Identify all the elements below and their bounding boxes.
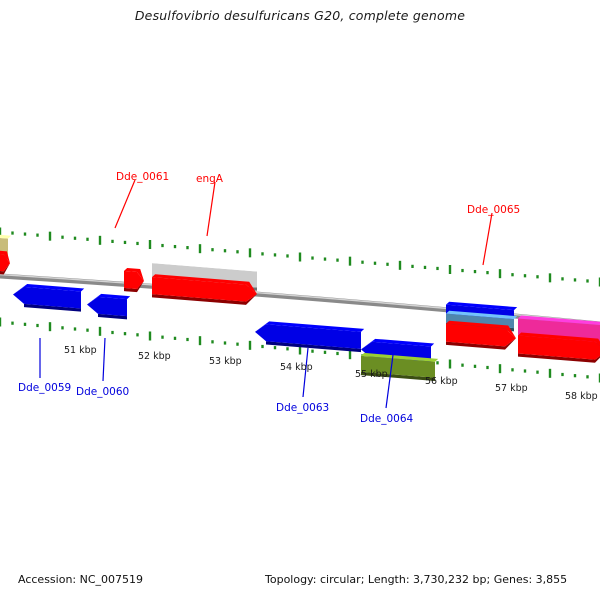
scale-tick-minor — [74, 327, 76, 330]
scale-tick-major — [299, 253, 301, 262]
scale-tick-major — [199, 336, 201, 345]
scale-tick-major — [249, 248, 251, 257]
feature-blue-0060[interactable] — [87, 293, 130, 320]
scale-tick-minor — [586, 375, 588, 378]
scale-tick-minor — [224, 249, 226, 252]
scale-tick-major — [0, 318, 1, 327]
scale-tick-major — [249, 341, 251, 350]
scale-tick-minor — [224, 341, 226, 344]
scale-tick-minor — [336, 259, 338, 262]
gene-label-dde_0059[interactable]: Dde_0059 — [18, 383, 71, 394]
scale-tick-major — [99, 327, 101, 336]
scale-tick-minor — [211, 340, 213, 343]
scale-tick-minor — [474, 270, 476, 273]
feature-red-leftedge[interactable] — [0, 250, 10, 275]
scale-tick-major — [199, 244, 201, 253]
scale-tick-minor — [124, 241, 126, 244]
scale-tick-minor — [436, 267, 438, 270]
scale-tick-minor — [236, 343, 238, 346]
scale-tick-minor — [286, 254, 288, 257]
gene-label-dde_0065[interactable]: Dde_0065 — [467, 205, 520, 216]
scale-tick-minor — [111, 331, 113, 334]
gene-label-dde_0064[interactable]: Dde_0064 — [360, 414, 413, 425]
scale-tick-minor — [61, 326, 63, 329]
scale-tick-minor — [511, 273, 513, 276]
scale-tick-minor — [124, 332, 126, 335]
scale-tick-minor — [136, 333, 138, 336]
scale-tick-minor — [61, 236, 63, 239]
leader-top-enga-leader — [207, 182, 215, 236]
scale-tick-minor — [574, 278, 576, 281]
scale-tick-minor — [24, 232, 26, 235]
gene-label-enga[interactable]: engA — [196, 174, 223, 185]
scale-label-4: 55 kbp — [355, 370, 388, 380]
scale-tick-major — [449, 360, 451, 369]
scale-tick-minor — [561, 373, 563, 376]
scale-tick-major — [349, 257, 351, 266]
page-title: Desulfovibrio desulfuricans G20, complet… — [0, 8, 600, 23]
scale-tick-minor — [174, 245, 176, 248]
scale-label-5: 56 kbp — [425, 377, 458, 387]
scale-tick-minor — [174, 337, 176, 340]
footer-accession: Accession: NC_007519 — [18, 573, 143, 586]
feature-blue-0063[interactable] — [255, 320, 364, 352]
scale-tick-major — [499, 364, 501, 373]
scale-label-1: 52 kbp — [138, 352, 171, 362]
scale-tick-major — [549, 369, 551, 378]
scale-tick-minor — [161, 336, 163, 339]
scale-tick-minor — [586, 279, 588, 282]
feature-red-0061[interactable] — [124, 268, 144, 293]
scale-tick-minor — [436, 361, 438, 364]
scale-tick-minor — [374, 262, 376, 265]
scale-tick-minor — [286, 347, 288, 350]
scale-tick-minor — [536, 275, 538, 278]
scale-label-2: 53 kbp — [209, 357, 242, 367]
scale-tick-minor — [386, 263, 388, 266]
scale-tick-minor — [486, 366, 488, 369]
scale-tick-minor — [111, 240, 113, 243]
scale-tick-major — [449, 265, 451, 274]
scale-tick-minor — [211, 248, 213, 251]
genome-viewer-stage: Desulfovibrio desulfuricans G20, complet… — [0, 0, 600, 600]
leader-bottom-dde_0060-leader — [103, 338, 105, 381]
gene-label-dde_0063[interactable]: Dde_0063 — [276, 403, 329, 414]
scale-tick-minor — [336, 352, 338, 355]
scale-tick-minor — [461, 364, 463, 367]
scale-tick-minor — [36, 234, 38, 237]
scale-tick-major — [349, 350, 351, 359]
scale-tick-minor — [324, 257, 326, 260]
footer-topology: Topology: circular; Length: 3,730,232 bp… — [265, 573, 567, 586]
leader-top-dde_0065-leader — [483, 213, 492, 265]
scale-tick-minor — [411, 265, 413, 268]
scale-tick-minor — [261, 252, 263, 255]
scale-tick-minor — [361, 261, 363, 264]
gene-label-dde_0061[interactable]: Dde_0061 — [116, 172, 169, 183]
scale-tick-minor — [86, 329, 88, 332]
scale-tick-minor — [86, 238, 88, 241]
scale-label-0: 51 kbp — [64, 346, 97, 356]
scale-label-3: 54 kbp — [280, 363, 313, 373]
scale-tick-minor — [511, 368, 513, 371]
scale-tick-minor — [186, 246, 188, 249]
scale-tick-minor — [186, 338, 188, 341]
scale-tick-major — [399, 261, 401, 270]
scale-tick-minor — [136, 242, 138, 245]
scale-label-6: 57 kbp — [495, 384, 528, 394]
scale-tick-minor — [261, 345, 263, 348]
scale-tick-major — [99, 236, 101, 245]
scale-tick-minor — [11, 231, 13, 234]
scale-tick-minor — [424, 266, 426, 269]
scale-tick-minor — [274, 253, 276, 256]
scale-tick-minor — [311, 256, 313, 259]
scale-tick-minor — [536, 371, 538, 374]
gene-label-dde_0060[interactable]: Dde_0060 — [76, 387, 129, 398]
scale-tick-minor — [274, 346, 276, 349]
scale-tick-major — [549, 273, 551, 282]
scale-tick-major — [149, 240, 151, 249]
scale-tick-minor — [561, 277, 563, 280]
scale-tick-minor — [74, 237, 76, 240]
scale-tick-minor — [236, 250, 238, 253]
scale-tick-minor — [24, 323, 26, 326]
scale-tick-major — [499, 269, 501, 278]
scale-tick-minor — [524, 274, 526, 277]
scale-label-7: 58 kbp — [565, 392, 598, 402]
scale-tick-major — [149, 332, 151, 341]
scale-tick-minor — [11, 322, 13, 325]
scale-tick-minor — [161, 244, 163, 247]
scale-tick-minor — [311, 350, 313, 353]
feature-blue-0060-body[interactable] — [87, 296, 127, 316]
scale-tick-minor — [486, 271, 488, 274]
scale-tick-minor — [461, 269, 463, 272]
scale-tick-minor — [36, 324, 38, 327]
scale-tick-minor — [324, 351, 326, 354]
leader-top-dde_0061-leader — [115, 180, 135, 228]
scale-tick-major — [49, 322, 51, 331]
scale-tick-minor — [574, 374, 576, 377]
scale-tick-major — [49, 232, 51, 241]
feature-blue-0059[interactable] — [13, 283, 84, 312]
scale-tick-minor — [524, 369, 526, 372]
scale-tick-minor — [474, 365, 476, 368]
tick-line-top-group — [0, 228, 600, 287]
